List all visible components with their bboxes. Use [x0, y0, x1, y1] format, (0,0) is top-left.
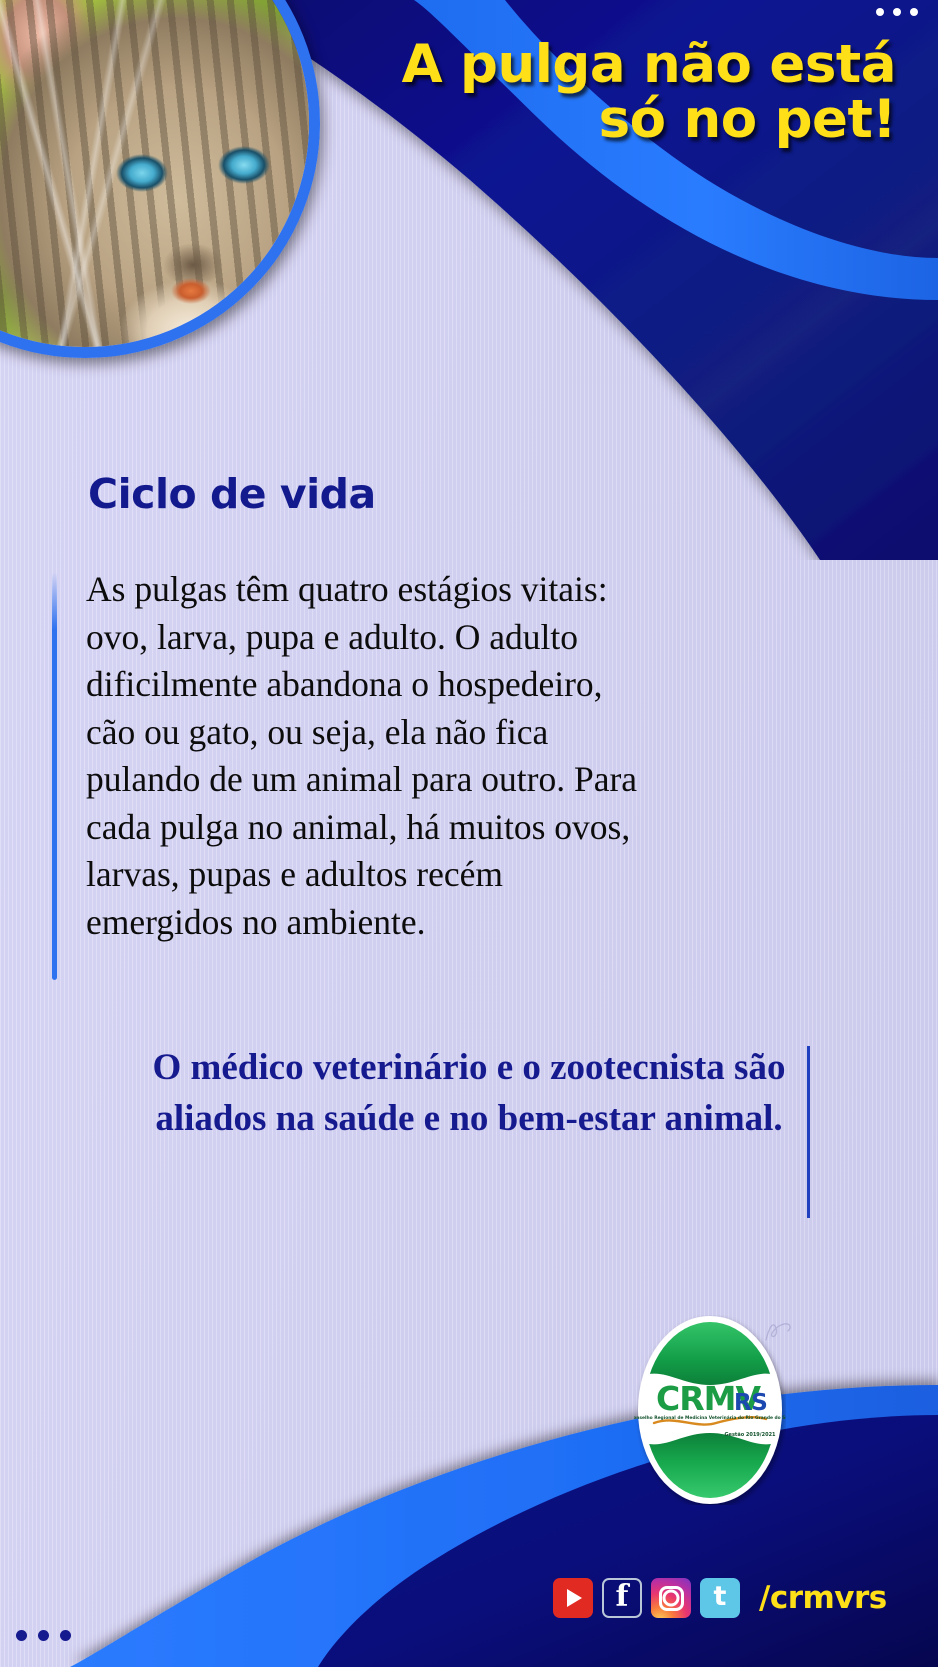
facebook-icon[interactable]: f: [602, 1578, 642, 1618]
bottom-left-dots: [16, 1630, 71, 1641]
twitter-bird-glyph: t: [714, 1583, 727, 1610]
cat-photo-frame: [0, 0, 320, 358]
logo-state-text: RS: [734, 1390, 767, 1416]
logo-term: Gestão 2019/2021: [724, 1432, 776, 1438]
social-handle: /crmvrs: [759, 1580, 887, 1616]
dot-icon: [893, 8, 901, 16]
signature-scribble-icon: [762, 1318, 796, 1344]
instagram-camera-glyph: [659, 1586, 684, 1611]
twitter-icon[interactable]: t: [700, 1578, 740, 1618]
youtube-icon[interactable]: [553, 1578, 593, 1618]
logo-subtitle: Conselho Regional de Medicina Veterinári…: [634, 1414, 786, 1421]
callout-block: O médico veterinário e o zootecnista são…: [150, 1042, 810, 1144]
dot-icon: [60, 1630, 71, 1641]
facebook-f-glyph: f: [616, 1582, 629, 1612]
top-right-dots: [876, 8, 918, 16]
dot-icon: [16, 1630, 27, 1641]
body-paragraph: As pulgas têm quatro estágios vitais: ov…: [86, 566, 652, 947]
instagram-icon[interactable]: [651, 1578, 691, 1618]
cat-whiskers-overlay: [0, 0, 309, 347]
body-block: As pulgas têm quatro estágios vitais: ov…: [52, 566, 652, 947]
callout-right-rule: [807, 1046, 810, 1218]
headline-line-1: A pulga não está: [402, 34, 896, 95]
page-headline: A pulga não está só no pet!: [336, 38, 896, 147]
dot-icon: [38, 1630, 49, 1641]
section-title: Ciclo de vida: [88, 470, 376, 518]
poster-canvas: A pulga não está só no pet! Ciclo de vid…: [0, 0, 938, 1667]
dot-icon: [876, 8, 884, 16]
left-accent-bar: [52, 572, 57, 980]
headline-line-2: só no pet!: [336, 93, 896, 148]
social-media-row: f t /crmvrs: [553, 1578, 887, 1618]
play-triangle-icon: [567, 1589, 582, 1607]
callout-paragraph: O médico veterinário e o zootecnista são…: [150, 1042, 788, 1144]
dot-icon: [910, 8, 918, 16]
